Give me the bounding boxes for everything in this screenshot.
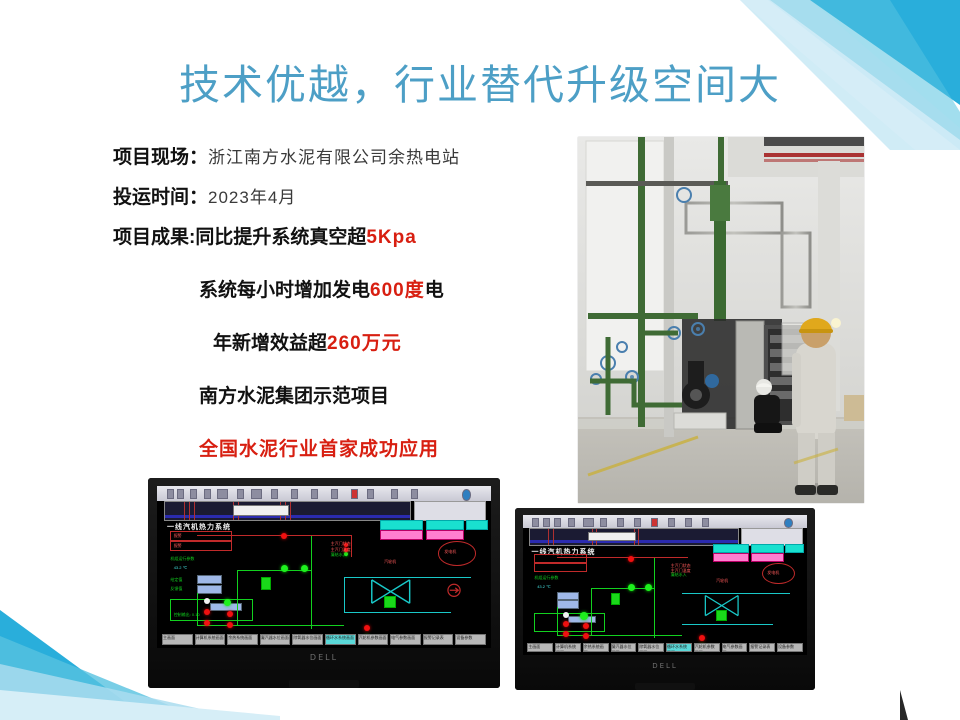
hmi-label-f3: 控制输出: 0.10: [174, 612, 200, 618]
toolbar2-icon-6[interactable]: [600, 518, 607, 527]
bullet-3-prefix: 南方水泥集团示范项目: [199, 386, 389, 407]
info-label-site: 项目现场：: [113, 147, 208, 168]
toolbar2-icon-1[interactable]: [532, 518, 539, 527]
decor-shape-dark-2: [0, 610, 150, 720]
hmi-legend-3: 凝结水入: [331, 552, 347, 558]
hmi2-tab-9[interactable]: 设备参数: [777, 643, 803, 652]
result-highlight: 5Kpa: [366, 227, 416, 248]
hmi-level-bar: [384, 596, 396, 608]
hmi-tab-0[interactable]: 主画面: [162, 634, 193, 645]
toolbar2-icon-5[interactable]: [583, 518, 594, 527]
hmi2-turbine-label: 汽轮机: [716, 578, 728, 584]
monitor-right-screen[interactable]: 一线汽机热力系统 机组运行参数 43.2 ℃: [523, 515, 807, 655]
hmi-toolbar-2[interactable]: [523, 515, 807, 528]
hmi-pump-icon: [444, 583, 464, 598]
hmi-tab-1[interactable]: 计算机系统画面: [195, 634, 226, 645]
hmi-indicator-green-2: [301, 565, 308, 572]
bullet-2-prefix: 年新增效益超: [213, 333, 327, 354]
hmi2-pipe-cw-return: [682, 624, 773, 625]
hmi-field-1[interactable]: [197, 575, 222, 584]
result-prefix: 同比提升系统真空超: [195, 227, 366, 248]
hmi2-indicator-green-2: [645, 584, 652, 591]
hmi2-box-alarm-2: [534, 563, 587, 572]
hmi2-tab-6[interactable]: 汽轮机参数画面: [694, 643, 720, 652]
hmi-label-f2: 反馈值: [170, 586, 182, 592]
toolbar-icon-11[interactable]: [331, 489, 338, 499]
info-label-date: 投运时间：: [113, 187, 208, 208]
hmi-btn-manage-screen[interactable]: [380, 530, 422, 540]
hmi-btn-control-params[interactable]: [426, 520, 465, 530]
bullet-row-4: 全国水泥行业首家成功应用: [113, 434, 583, 461]
hmi-generator-label: 发电机: [444, 549, 456, 555]
decoration-bottom-right: [900, 630, 960, 720]
toolbar-icon-6[interactable]: [237, 489, 244, 499]
hmi2-tab-1[interactable]: 计算机系统画面: [555, 643, 581, 652]
hmi2-level-bar-2: [611, 593, 620, 605]
hmi-left[interactable]: 一线汽机热力系统 报警 报警 机组运行参数 43.2 ℃ 给定值 反馈值 控制输…: [157, 486, 491, 648]
hmi-toolbar[interactable]: [157, 486, 491, 501]
hmi-tab-bar-2[interactable]: 主画面 计算机系统画面 余热系统画面 凝汽器水位画面 除氧器水位画面 循环水系统…: [527, 643, 803, 652]
bullet-1-suffix: 电: [425, 280, 444, 301]
hmi2-tab-4[interactable]: 除氧器水位画面: [638, 643, 664, 652]
trend2-tick-1: [548, 529, 549, 544]
trend2-tick-6: [638, 529, 639, 544]
hmi-pipe-mid-riser: [237, 570, 238, 625]
result-row: 项目成果:同比提升系统真空超5Kpa: [113, 222, 583, 249]
hmi-indicator-red-top: [281, 533, 287, 539]
hmi-indicator-green-1: [281, 565, 288, 572]
hmi2-tab-2[interactable]: 余热系统画面: [583, 643, 609, 652]
hmi2-tab-3[interactable]: 凝汽器水位画面: [611, 643, 637, 652]
toolbar2-icon-9[interactable]: [651, 518, 658, 527]
hmi2-pipe-left-riser: [557, 607, 558, 635]
hmi-tab-7[interactable]: 电气参数画面: [390, 634, 421, 645]
hmi-status-panel: [414, 501, 486, 521]
toolbar2-icon-2[interactable]: [543, 518, 550, 527]
hmi-tab-9[interactable]: 设备参数: [455, 634, 486, 645]
hmi2-level-bar: [716, 610, 727, 620]
monitor-right-stand: [635, 683, 695, 690]
help-icon[interactable]: [462, 489, 471, 500]
site-photo: [578, 137, 864, 503]
toolbar-icon-7[interactable]: [251, 489, 262, 499]
hmi-tab-2[interactable]: 余热系统画面: [227, 634, 258, 645]
hmi2-indicator-red-top: [628, 556, 634, 562]
hmi-pipe-steam: [197, 535, 351, 536]
hmi-indicator-white-1: [204, 598, 210, 604]
trend2-value-field[interactable]: [588, 532, 636, 542]
hmi-tab-4[interactable]: 除氧器水位画面: [292, 634, 323, 645]
hmi2-tab-8[interactable]: 报警记录表: [749, 643, 775, 652]
hmi-label-group-1: 机组运行参数: [170, 556, 194, 562]
hmi-tab-6[interactable]: 汽轮机参数画面: [358, 634, 389, 645]
hmi-label-alarm-2: 报警: [174, 543, 182, 549]
hmi-indicator-red-5: [364, 625, 370, 631]
hmi-tab-3[interactable]: 凝汽器水位画面: [260, 634, 291, 645]
toolbar-icon-9[interactable]: [291, 489, 298, 499]
toolbar2-icon-4[interactable]: [568, 518, 575, 527]
hmi-trend-strip[interactable]: [164, 501, 411, 521]
hmi-level-bar-2: [261, 577, 271, 590]
trend-tick-2: [189, 502, 190, 520]
hmi2-field-2[interactable]: [557, 600, 579, 608]
bullet-1-highlight: 600度: [370, 280, 425, 301]
monitor-left-screen[interactable]: 一线汽机热力系统 报警 报警 机组运行参数 43.2 ℃ 给定值 反馈值 控制输…: [157, 486, 491, 648]
hmi2-pipe-bottom: [557, 635, 682, 636]
toolbar-icon-2[interactable]: [177, 489, 184, 499]
hmi2-indicator-white-1: [563, 612, 569, 618]
bullet-row-2: 年新增效益超260万元: [113, 328, 583, 355]
hmi2-indicator-red-2: [563, 631, 569, 637]
hmi2-pipe-steam: [557, 557, 688, 558]
hmi-pipe-upper: [237, 570, 310, 571]
monitor-right-brand: DELL: [515, 662, 815, 670]
hmi-turbine-label: 汽轮机: [384, 559, 396, 565]
hmi-tab-bar[interactable]: 主画面 计算机系统画面 余热系统画面 凝汽器水位画面 除氧器水位画面 循环水系统…: [162, 634, 486, 645]
toolbar2-icon-8[interactable]: [634, 518, 641, 527]
bullet-4-prefix: 全国水泥行业首家成功应用: [199, 439, 439, 460]
hmi-pipe-bottom: [197, 625, 344, 626]
hmi2-indicator-green-1: [628, 584, 635, 591]
hmi2-btn-aux-params[interactable]: [785, 544, 804, 553]
hmi-tab-8[interactable]: 报警记录表: [423, 634, 454, 645]
help-icon-2[interactable]: [784, 518, 793, 528]
hmi-indicator-red-3: [227, 611, 233, 617]
hmi-btn-switch-ui[interactable]: [380, 520, 422, 530]
monitor-left-stand: [289, 680, 359, 688]
hmi-status-panel-2: [741, 528, 803, 545]
toolbar2-icon-7[interactable]: [617, 518, 624, 527]
content-text-block: 项目现场：浙江南方水泥有限公司余热电站 投运时间：2023年4月 项目成果:同比…: [113, 142, 583, 474]
toolbar2-icon-10[interactable]: [668, 518, 675, 527]
toolbar2-icon-12[interactable]: [702, 518, 709, 527]
info-value-date: 2023年4月: [208, 188, 296, 207]
hmi2-btn-history-curve[interactable]: [751, 553, 784, 562]
result-label: 项目成果:: [113, 227, 195, 248]
hmi2-indicator-green-3: [580, 612, 588, 620]
toolbar-icon-15[interactable]: [411, 489, 418, 499]
toolbar2-icon-11[interactable]: [685, 518, 692, 527]
bullet-row-1: 系统每小时增加发电600度电: [113, 275, 583, 302]
hmi-pipe-left-riser: [197, 593, 198, 625]
hmi-tab-5[interactable]: 循环水系统画面: [325, 634, 356, 645]
hmi-right[interactable]: 一线汽机热力系统 机组运行参数 43.2 ℃: [523, 515, 807, 655]
hmi-label-temp-1: 43.2 ℃: [174, 565, 187, 570]
page-title: 技术优越，行业替代升级空间大: [0, 60, 960, 111]
trend-tick-3: [194, 502, 195, 520]
toolbar-icon-14[interactable]: [391, 489, 398, 499]
toolbar-icon-13[interactable]: [367, 489, 374, 499]
trend-tick-1: [184, 502, 185, 520]
toolbar-icon-5[interactable]: [217, 489, 228, 499]
toolbar-icon-4[interactable]: [204, 489, 211, 499]
hmi2-field-1[interactable]: [557, 592, 579, 600]
hmi-pipe-cw-riser: [344, 577, 345, 613]
trend-value-field[interactable]: [233, 505, 289, 516]
site-photo-svg: [578, 137, 864, 503]
hmi-btn-aux-params[interactable]: [466, 520, 488, 530]
hmi2-btn-manage-screen[interactable]: [713, 553, 749, 562]
hmi-field-2[interactable]: [197, 585, 222, 594]
hmi2-label-group-1: 机组运行参数: [534, 575, 558, 581]
hmi2-tab-0[interactable]: 主画面: [527, 643, 553, 652]
toolbar-icon-3[interactable]: [190, 489, 197, 499]
hmi2-generator-label: 发电机: [767, 570, 779, 576]
decor-shape-pale-2: [0, 690, 280, 720]
hmi2-pipe-center: [654, 557, 655, 638]
hmi-label-f1: 给定值: [170, 577, 182, 583]
hmi2-indicator-red-3: [583, 623, 589, 629]
bullet-2-highlight: 260万元: [327, 333, 402, 354]
monitor-left: 一线汽机热力系统 报警 报警 机组运行参数 43.2 ℃ 给定值 反馈值 控制输…: [148, 478, 500, 688]
hmi-indicator-red-4: [227, 622, 233, 628]
toolbar-icon-10[interactable]: [311, 489, 318, 499]
bullet-1-prefix: 系统每小时增加发电: [199, 280, 370, 301]
toolbar-icon-1[interactable]: [167, 489, 174, 499]
decor-br-svg: [900, 630, 960, 720]
hmi2-indicator-red-5: [699, 635, 705, 641]
hmi2-tab-7[interactable]: 电气参数画面: [722, 643, 748, 652]
toolbar2-icon-3[interactable]: [554, 518, 561, 527]
hmi2-legend-3: 凝结水入: [671, 572, 687, 578]
toolbar-icon-12[interactable]: [351, 489, 358, 499]
hmi2-pipe-mid-riser: [591, 588, 592, 636]
decor-shape-edge: [900, 690, 908, 720]
hmi-label-alarm-1: 报警: [174, 533, 182, 539]
hmi2-tab-5[interactable]: 循环水系统画面: [666, 643, 692, 652]
trend2-tick-2: [553, 529, 554, 544]
hmi-btn-history-curve[interactable]: [426, 530, 465, 540]
info-row-site: 项目现场：浙江南方水泥有限公司余热电站: [113, 142, 583, 169]
toolbar-icon-8[interactable]: [271, 489, 278, 499]
hmi-trend-strip-2[interactable]: [529, 528, 739, 545]
hmi-pipe-steam-drop: [351, 535, 352, 558]
monitor-left-brand: DELL: [148, 653, 500, 662]
hmi2-indicator-red-4: [583, 633, 589, 639]
hmi-pipe-center: [311, 535, 312, 629]
trend-tick-8: [290, 502, 291, 520]
info-row-date: 投运时间：2023年4月: [113, 182, 583, 209]
hmi2-label-temp-1: 43.2 ℃: [537, 584, 550, 589]
hmi-pipe-cw-return: [344, 612, 451, 613]
info-value-site: 浙江南方水泥有限公司余热电站: [208, 148, 460, 167]
hmi-indicator-red-1: [204, 609, 210, 615]
monitor-right: 一线汽机热力系统 机组运行参数 43.2 ℃: [515, 508, 815, 690]
bullet-row-3: 南方水泥集团示范项目: [113, 381, 583, 408]
